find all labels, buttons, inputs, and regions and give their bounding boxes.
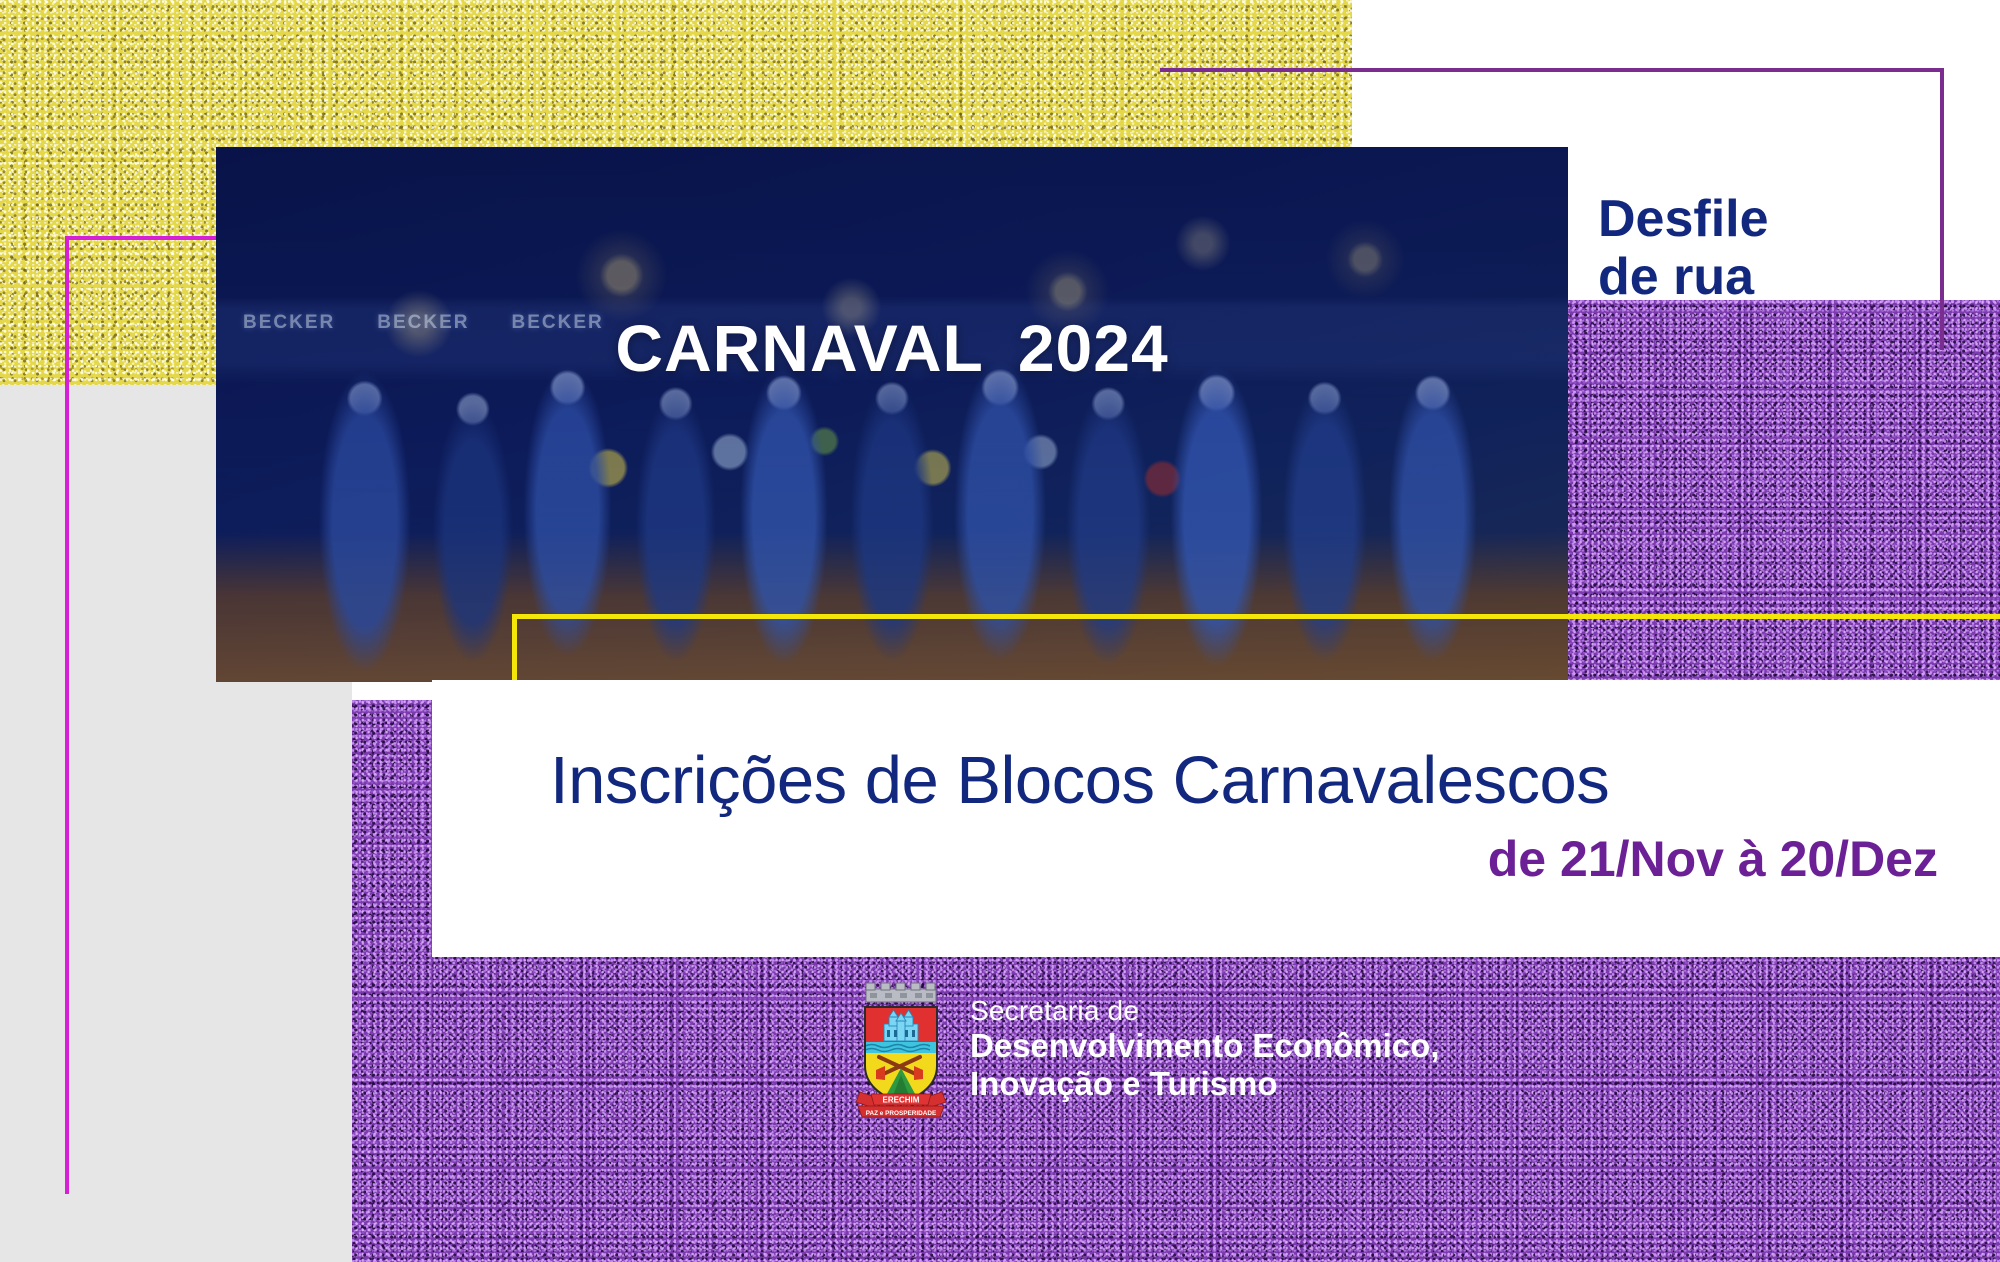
decorative-line-purple-right [1940, 68, 1944, 350]
registration-banner: Inscrições de Blocos Carnavalescos de 21… [432, 680, 2000, 957]
banner-date-range: de 21/Nov à 20/Dez [1488, 830, 1938, 888]
erechim-coat-of-arms-icon: ERECHIM PAZ e PROSPERIDADE [852, 980, 950, 1118]
decorative-line-purple-top [1160, 68, 1944, 72]
photo-blue-duotone-overlay [216, 147, 1568, 682]
secretariat-name: Secretaria de Desenvolvimento Econômico,… [970, 995, 1439, 1104]
page-title: CARNAVAL2024 [216, 315, 1568, 381]
secretariat-name-line-2: Inovação e Turismo [970, 1065, 1439, 1103]
crest-motto-ribbon-text: PAZ e PROSPERIDADE [866, 1110, 937, 1117]
decorative-line-yellow-top [512, 614, 2000, 619]
headline-event: CARNAVAL [615, 311, 984, 385]
decorative-line-magenta-left [65, 236, 69, 1194]
crest-city-ribbon-text: ERECHIM [883, 1096, 920, 1105]
kicker-desfile-de-rua: Desfile de rua [1598, 190, 1928, 306]
parade-photo-card: BECKER BECKER BECKER CARNAVAL2024 [216, 147, 1568, 682]
secretariat-name-line-1: Desenvolvimento Econômico, [970, 1027, 1439, 1065]
secretariat-brand-lockup: ERECHIM PAZ e PROSPERIDADE Secretaria de… [852, 980, 1439, 1118]
secretariat-prefix: Secretaria de [970, 995, 1439, 1027]
headline-year: 2024 [1018, 311, 1169, 385]
carnival-poster: BECKER BECKER BECKER CARNAVAL2024 Desfil… [0, 0, 2000, 1262]
banner-title: Inscrições de Blocos Carnavalescos [550, 742, 1950, 819]
